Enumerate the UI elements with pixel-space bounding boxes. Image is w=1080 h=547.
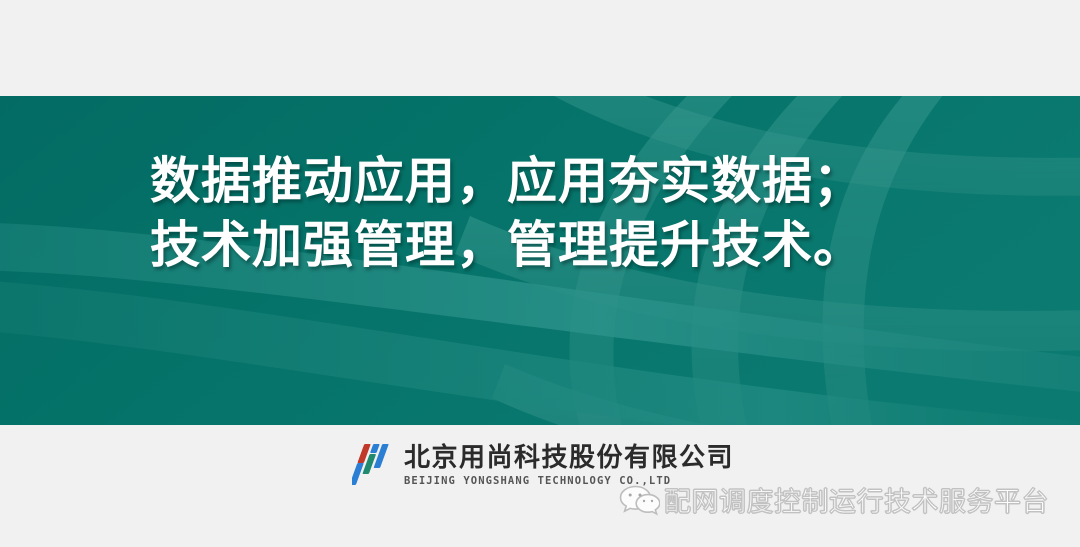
slide-canvas: 数据推动应用，应用夯实数据； 技术加强管理，管理提升技术。 北京用尚科技股份有限… bbox=[0, 0, 1080, 547]
headline-line-1: 数据推动应用，应用夯实数据； bbox=[150, 149, 950, 213]
watermark-text: 配网调度控制运行技术服务平台 bbox=[664, 480, 1049, 519]
company-name-cn: 北京用尚科技股份有限公司 bbox=[404, 445, 734, 472]
headline-line-2: 技术加强管理，管理提升技术。 bbox=[150, 213, 950, 277]
wechat-watermark: 配网调度控制运行技术服务平台 bbox=[618, 480, 1049, 519]
wechat-icon bbox=[618, 482, 660, 518]
headline-block: 数据推动应用，应用夯实数据； 技术加强管理，管理提升技术。 bbox=[150, 98, 950, 328]
three-slash-logo-mark-icon bbox=[352, 442, 394, 490]
